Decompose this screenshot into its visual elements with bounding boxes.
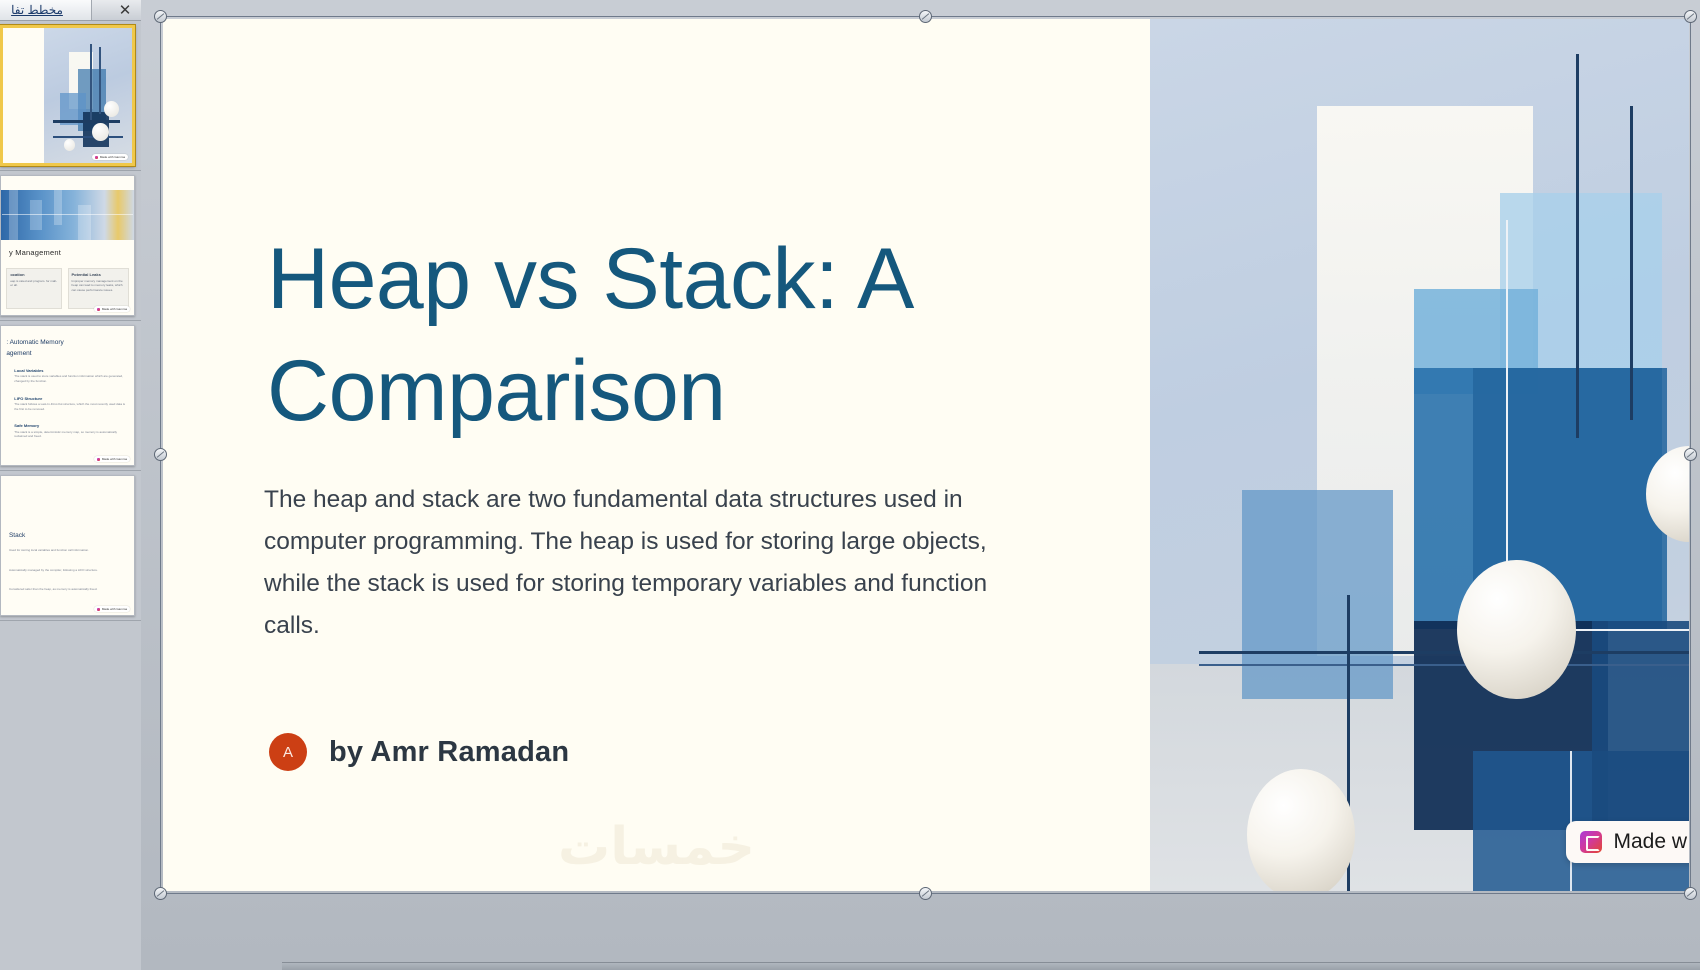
thumb3-section-3: Safe Memory The stack is a simple, deter… bbox=[14, 423, 126, 439]
thumb1-sphere bbox=[104, 101, 119, 117]
resize-handle-top-right[interactable] bbox=[1684, 10, 1697, 23]
thumb1-sphere bbox=[64, 139, 75, 151]
thumb3-title-line2: agement bbox=[6, 350, 110, 359]
gamma-logo-icon bbox=[97, 608, 100, 611]
thumbnail-canvas: : Automatic Memory agement Local Variabl… bbox=[0, 325, 135, 466]
document-tab-strip: مخطط تفا ✕ bbox=[0, 0, 141, 21]
thumbnail-made-badge: Made with Gamma bbox=[94, 606, 130, 612]
thumb1-rod bbox=[53, 136, 123, 138]
resize-handle-bottom-right[interactable] bbox=[1684, 887, 1697, 900]
horizontal-scrollbar[interactable] bbox=[282, 962, 1700, 970]
close-icon[interactable]: ✕ bbox=[115, 1, 135, 20]
gamma-logo-icon bbox=[95, 156, 98, 159]
thumb4-bullet-3: Considered safer than the heap, as memor… bbox=[9, 587, 123, 592]
thumb2-card-1: ocation eap is cated and program. for ma… bbox=[6, 268, 62, 310]
resize-handle-middle-right[interactable] bbox=[1684, 448, 1697, 461]
thumb3-section-1: Local Variables The stack is used to sto… bbox=[14, 368, 126, 384]
resize-handle-middle-left[interactable] bbox=[154, 448, 167, 461]
presentation-editor-window: مخطط تفا ✕ bbox=[0, 0, 1700, 970]
resize-handle-bottom-center[interactable] bbox=[919, 887, 932, 900]
slide-thumbnail-2[interactable]: y Management ocation eap is cated and pr… bbox=[0, 171, 141, 321]
resize-handle-top-left[interactable] bbox=[154, 10, 167, 23]
thumb4-bullet-1: Used for storing local variables and fun… bbox=[9, 548, 123, 553]
thumb3-title: : Automatic Memory bbox=[6, 339, 110, 348]
slide-thumbnail-4[interactable]: Stack Used for storing local variables a… bbox=[0, 471, 141, 621]
thumbnail-canvas: Made with Gamma bbox=[0, 25, 135, 166]
thumb2-title: y Management bbox=[9, 248, 61, 257]
gamma-logo-icon bbox=[97, 308, 100, 311]
thumbnail-made-badge: Made with Gamma bbox=[94, 306, 130, 312]
thumbnail-canvas: y Management ocation eap is cated and pr… bbox=[0, 175, 135, 316]
thumb1-rod bbox=[53, 120, 120, 123]
thumbnail-canvas: Stack Used for storing local variables a… bbox=[0, 475, 135, 616]
thumb1-rod bbox=[99, 47, 101, 115]
thumb4-bullet-2: Automatically managed by the compiler, f… bbox=[9, 568, 123, 573]
slide-thumbnail-1[interactable]: Made with Gamma bbox=[0, 21, 141, 171]
thumb1-text-area bbox=[3, 28, 44, 163]
gamma-logo-icon bbox=[97, 458, 100, 461]
thumb2-card-2: Potential Leaks Improper memory manageme… bbox=[68, 268, 129, 310]
thumb1-rod bbox=[90, 44, 92, 120]
resize-handle-bottom-left[interactable] bbox=[154, 887, 167, 900]
thumb4-title: Stack bbox=[9, 532, 25, 541]
thumbnail-made-badge: Made with Gamma bbox=[94, 456, 130, 462]
slide-thumbnail-3[interactable]: : Automatic Memory agement Local Variabl… bbox=[0, 321, 141, 471]
slide-editing-canvas[interactable]: Heap vs Stack: A Comparison The heap and… bbox=[141, 0, 1700, 970]
thumb3-section-2: LIFO Structure The stack follows a Last-… bbox=[14, 396, 126, 412]
slide-navigator-panel: مخطط تفا ✕ bbox=[0, 0, 141, 970]
document-tab[interactable]: مخطط تفا bbox=[0, 0, 92, 21]
thumb1-art-area bbox=[44, 28, 132, 163]
selection-frame bbox=[160, 16, 1691, 894]
slide-thumbnail-list[interactable]: Made with Gamma y Management bbox=[0, 21, 141, 970]
thumb2-banner bbox=[1, 190, 134, 240]
thumbnail-made-badge: Made with Gamma bbox=[92, 154, 128, 160]
resize-handle-top-center[interactable] bbox=[919, 10, 932, 23]
